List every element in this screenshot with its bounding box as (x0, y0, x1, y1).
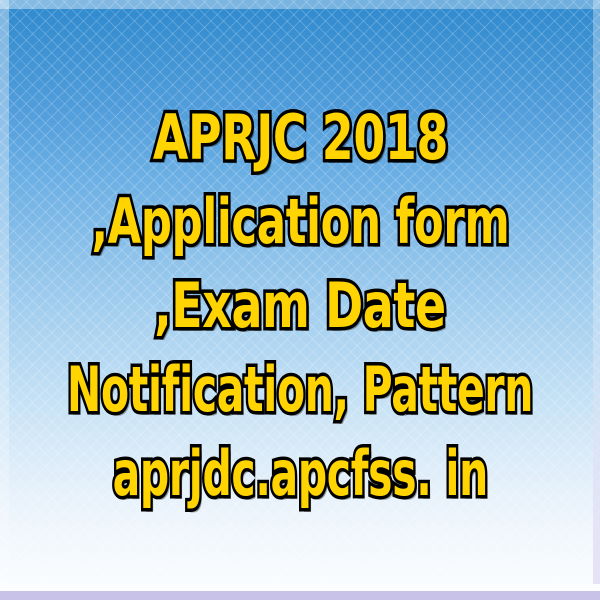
poster-image: APRJC 2018 ,Application form ,Exam Date … (0, 0, 600, 600)
background-gradient (0, 0, 600, 600)
